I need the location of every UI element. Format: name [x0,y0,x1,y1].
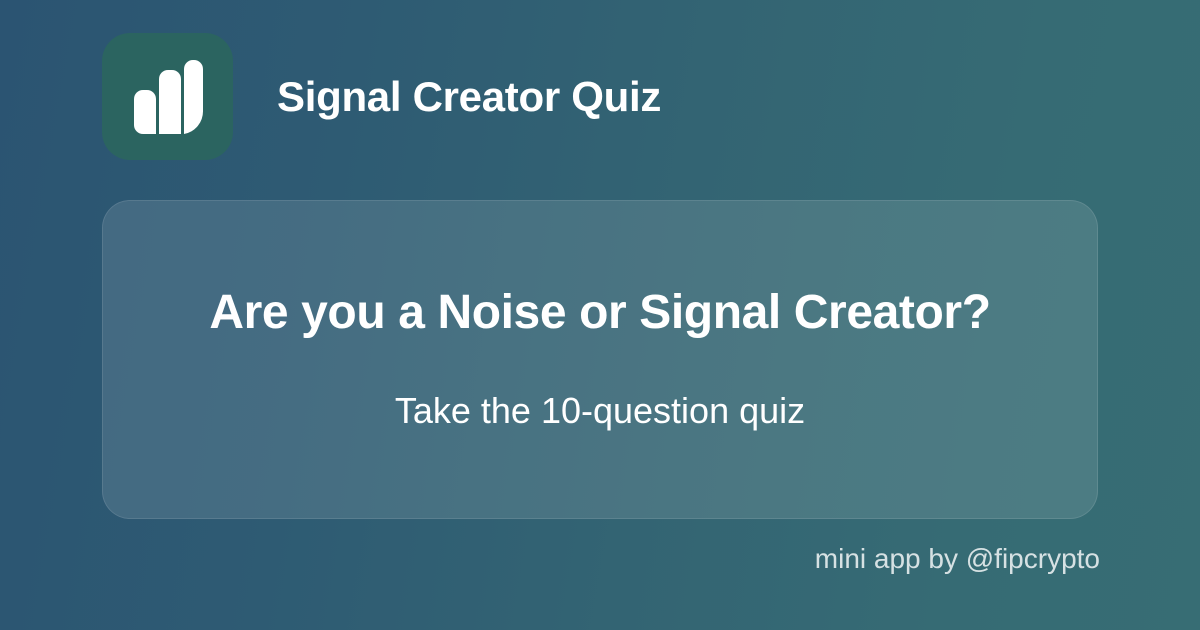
app-logo-tile [102,33,233,160]
bar-chart-icon [132,59,204,135]
footer-credit: mini app by @fipcrypto [815,543,1100,575]
quiz-promo-card: Are you a Noise or Signal Creator? Take … [102,200,1098,519]
app-title: Signal Creator Quiz [277,73,661,121]
quiz-subheading: Take the 10-question quiz [395,389,805,432]
app-header: Signal Creator Quiz [102,33,661,160]
quiz-question-heading: Are you a Noise or Signal Creator? [209,287,990,340]
